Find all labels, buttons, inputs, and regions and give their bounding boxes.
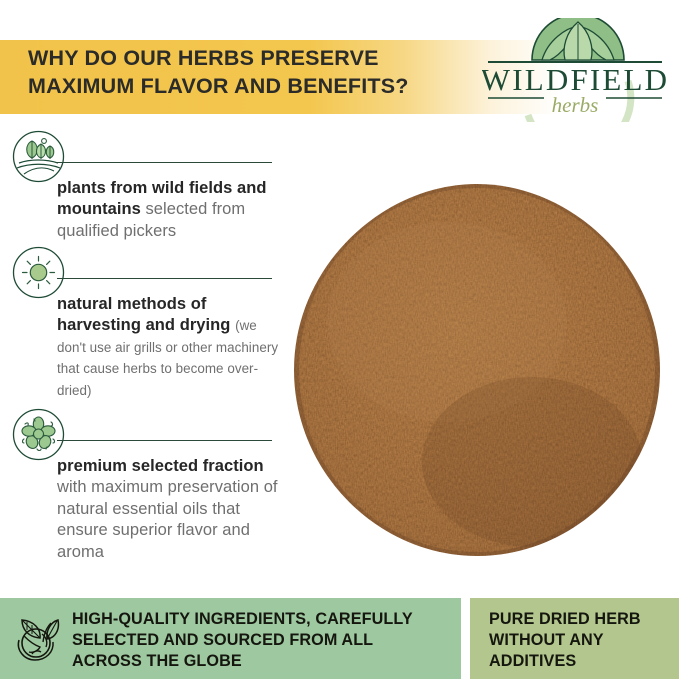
infographic-page: WHY DO OUR HERBS PRESERVE MAXIMUM FLAVOR…: [0, 0, 679, 679]
banner-right: PURE DRIED HERB WITHOUT ANY ADDITIVES: [470, 598, 679, 679]
field-plants-icon: [12, 130, 65, 183]
page-title-line1: WHY DO OUR HERBS PRESERVE: [28, 44, 478, 72]
feature-text-3-regular: with maximum preservation of natural ess…: [57, 478, 278, 560]
feature-text-3: premium selected fraction with maximum p…: [57, 456, 289, 563]
banner-left: HIGH-QUALITY INGREDIENTS, CAREFULLY SELE…: [0, 598, 461, 679]
feature-divider-2: [57, 278, 272, 279]
page-title: WHY DO OUR HERBS PRESERVE MAXIMUM FLAVOR…: [28, 44, 478, 101]
feature-text-1: plants from wild fields and mountains se…: [57, 178, 289, 242]
banner-right-line3: ADDITIVES: [489, 651, 675, 672]
sun-icon: [12, 246, 65, 299]
banner-left-line1: HIGH-QUALITY INGREDIENTS, CAREFULLY: [72, 609, 452, 630]
feature-text-2: natural methods of harvesting and drying…: [57, 294, 289, 401]
banner-right-line1: PURE DRIED HERB: [489, 609, 675, 630]
logo-script-text: herbs: [552, 93, 599, 117]
banner-right-line2: WITHOUT ANY: [489, 630, 675, 651]
logo-brand-text: WILDFIELD: [482, 62, 668, 97]
brand-logo: WILDFIELD herbs: [482, 18, 668, 122]
globe-leaf-icon: [12, 612, 64, 664]
feature-divider-1: [57, 162, 272, 163]
banner-left-line2: SELECTED AND SOURCED FROM ALL: [72, 630, 452, 651]
dried-herb-pile-photo: [282, 172, 672, 572]
banner-right-text: PURE DRIED HERB WITHOUT ANY ADDITIVES: [489, 609, 675, 672]
banner-left-line3: ACROSS THE GLOBE: [72, 651, 452, 672]
feature-text-2-bold: natural methods of harvesting and drying: [57, 295, 230, 334]
feature-text-3-bold: premium selected fraction: [57, 457, 264, 475]
page-title-line2: MAXIMUM FLAVOR AND BENEFITS?: [28, 72, 478, 100]
feature-divider-3: [57, 440, 272, 441]
herb-flower-icon: [12, 408, 65, 461]
banner-left-text: HIGH-QUALITY INGREDIENTS, CAREFULLY SELE…: [72, 609, 452, 672]
